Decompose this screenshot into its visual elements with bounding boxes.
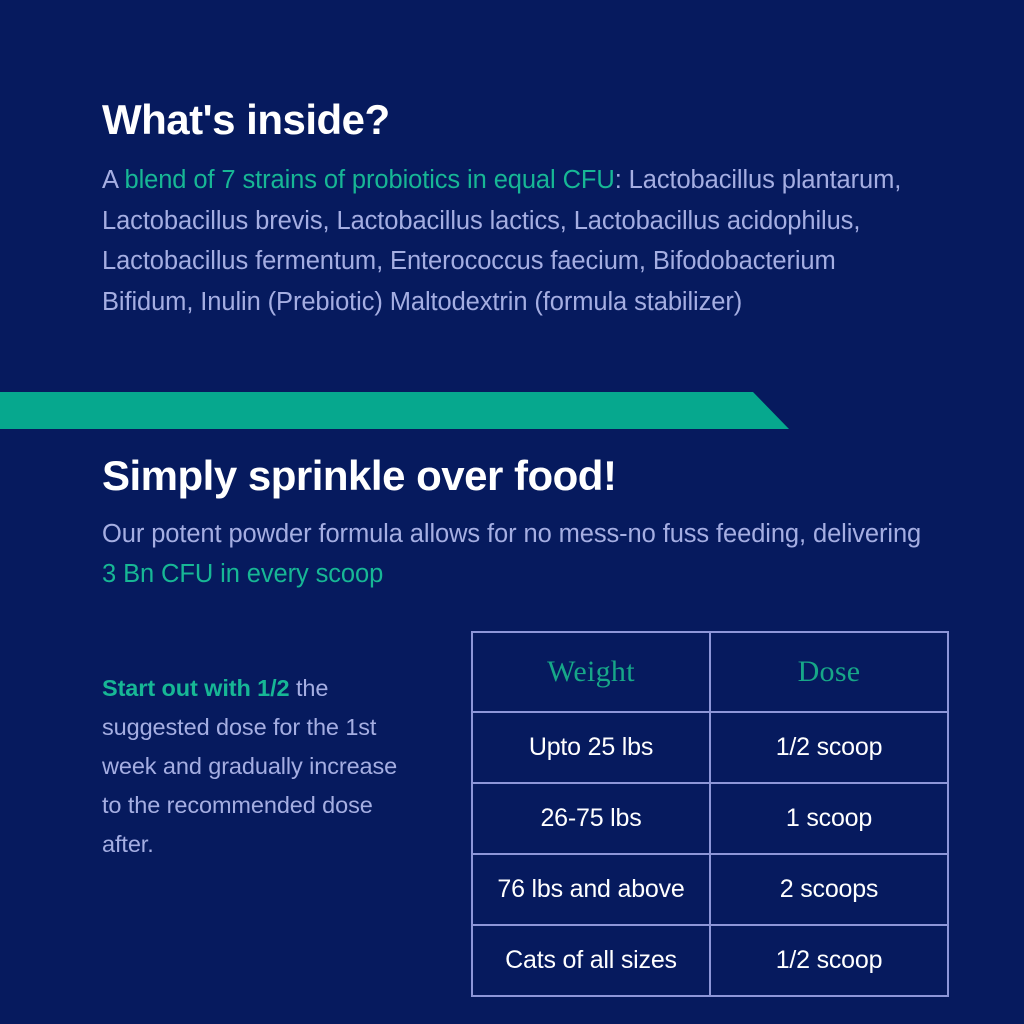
table-header-row: Weight Dose — [472, 632, 948, 712]
cell-dose: 1/2 scoop — [710, 712, 948, 783]
table-row: Cats of all sizes 1/2 scoop — [472, 925, 948, 996]
whats-inside-section: What's inside? A blend of 7 strains of p… — [102, 96, 932, 322]
cell-weight: 26-75 lbs — [472, 783, 710, 854]
table-row: Upto 25 lbs 1/2 scoop — [472, 712, 948, 783]
dosage-table: Weight Dose Upto 25 lbs 1/2 scoop 26-75 … — [471, 631, 949, 997]
cell-dose: 1 scoop — [710, 783, 948, 854]
ingredients-lead-plain: A — [102, 166, 125, 194]
dose-note-rest: the suggested dose for the 1st week and … — [102, 675, 397, 857]
table-row: 26-75 lbs 1 scoop — [472, 783, 948, 854]
dose-instructions-note: Start out with 1/2 the suggested dose fo… — [102, 669, 422, 864]
sprinkle-section: Simply sprinkle over food! Our potent po… — [102, 452, 922, 594]
ingredients-paragraph: A blend of 7 strains of probiotics in eq… — [102, 160, 932, 322]
whats-inside-heading: What's inside? — [102, 96, 932, 144]
column-header-dose: Dose — [710, 632, 948, 712]
sprinkle-body-highlight: 3 Bn CFU in every scoop — [102, 560, 383, 588]
cell-weight: 76 lbs and above — [472, 854, 710, 925]
dosage-table-head: Weight Dose — [472, 632, 948, 712]
dosage-table-body: Upto 25 lbs 1/2 scoop 26-75 lbs 1 scoop … — [472, 712, 948, 996]
infographic-page: What's inside? A blend of 7 strains of p… — [0, 0, 1024, 1024]
cell-weight: Cats of all sizes — [472, 925, 710, 996]
sprinkle-body-prefix: Our potent powder formula allows for no … — [102, 520, 921, 548]
table-row: 76 lbs and above 2 scoops — [472, 854, 948, 925]
sprinkle-paragraph: Our potent powder formula allows for no … — [102, 514, 922, 594]
angled-divider-bar — [0, 392, 789, 429]
ingredients-highlight: blend of 7 strains of probiotics in equa… — [125, 166, 615, 194]
cell-dose: 1/2 scoop — [710, 925, 948, 996]
cell-weight: Upto 25 lbs — [472, 712, 710, 783]
sprinkle-heading: Simply sprinkle over food! — [102, 452, 922, 500]
dose-note-lead: Start out with 1/2 — [102, 675, 290, 701]
cell-dose: 2 scoops — [710, 854, 948, 925]
column-header-weight: Weight — [472, 632, 710, 712]
